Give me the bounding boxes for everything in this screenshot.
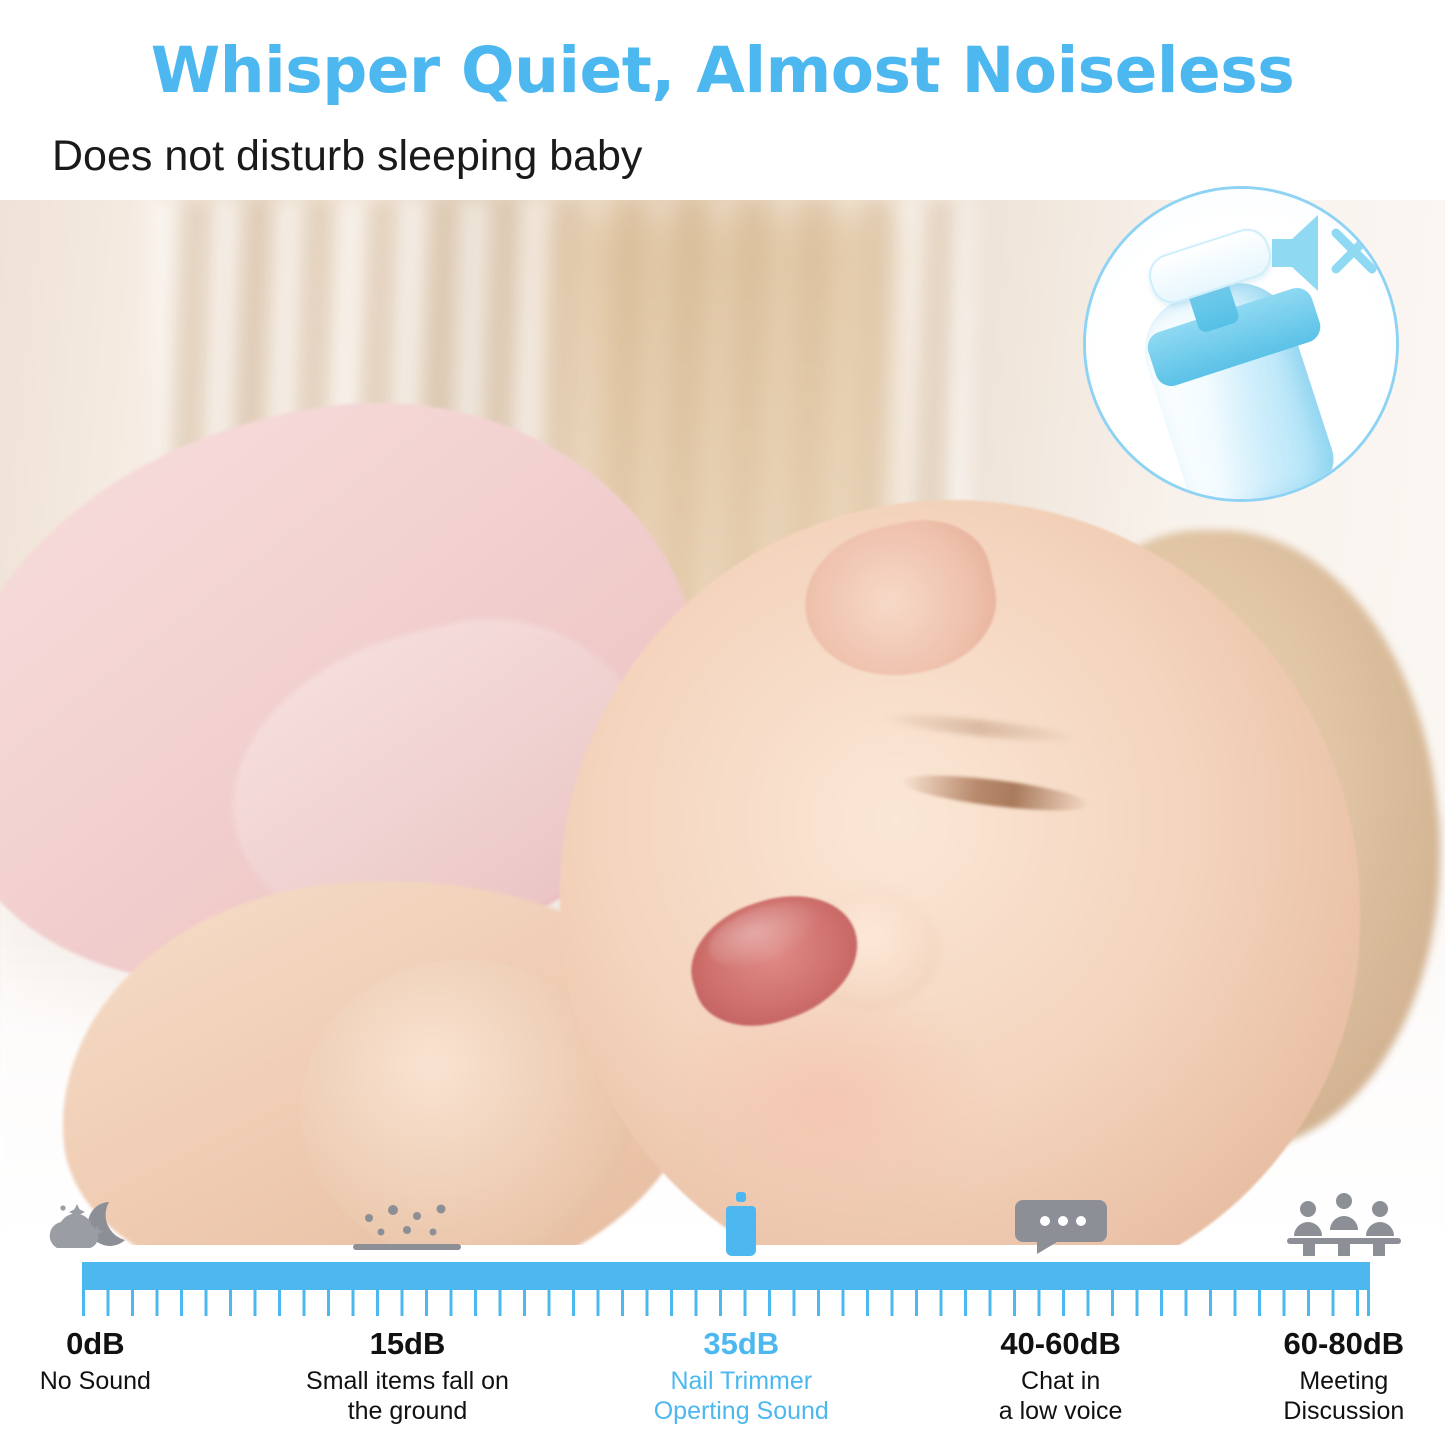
scale-label-nail-trimmer: 35dB Nail Trimmer Operting Sound xyxy=(591,1325,891,1427)
promo-image: Whisper Quiet, Almost Noiseless Does not… xyxy=(0,0,1445,1445)
scale-desc: Meeting Discussion xyxy=(1194,1366,1445,1427)
nail-trimmer-icon xyxy=(718,1190,764,1263)
scale-ticks xyxy=(82,1290,1370,1316)
scale-db-value: 40-60dB xyxy=(911,1325,1211,1363)
product-inset-circle xyxy=(1083,186,1399,502)
scale-bar xyxy=(82,1262,1370,1290)
scale-desc: Small items fall on the ground xyxy=(257,1366,557,1427)
scale-label-no-sound: 0dB No Sound xyxy=(0,1325,245,1396)
falling-particles-icon xyxy=(347,1202,467,1261)
speech-bubble-icon xyxy=(1015,1196,1107,1261)
scale-label-small-items: 15dB Small items fall on the ground xyxy=(257,1325,557,1427)
scale-icons xyxy=(0,1190,1445,1256)
scale-label-chat: 40-60dB Chat in a low voice xyxy=(911,1325,1211,1427)
scale-label-meeting: 60-80dB Meeting Discussion xyxy=(1194,1325,1445,1427)
scale-db-value: 0dB xyxy=(0,1325,245,1363)
scale-desc: Chat in a low voice xyxy=(911,1366,1211,1427)
sound-scale: 0dB No Sound 15dB Small items fall on th… xyxy=(0,1190,1445,1445)
scale-desc: Nail Trimmer Operting Sound xyxy=(591,1366,891,1427)
scale-db-value: 35dB xyxy=(591,1325,891,1363)
scale-labels: 0dB No Sound 15dB Small items fall on th… xyxy=(0,1325,1445,1445)
scale-desc: No Sound xyxy=(0,1366,245,1397)
scale-db-value: 60-80dB xyxy=(1194,1325,1445,1363)
mute-speaker-icon xyxy=(1258,199,1384,307)
meeting-people-icon xyxy=(1281,1192,1407,1263)
page-subtitle: Does not disturb sleeping baby xyxy=(52,132,642,181)
moon-stars-icon xyxy=(47,1196,143,1261)
scale-db-value: 15dB xyxy=(257,1325,557,1363)
page-title: Whisper Quiet, Almost Noiseless xyxy=(0,34,1445,107)
